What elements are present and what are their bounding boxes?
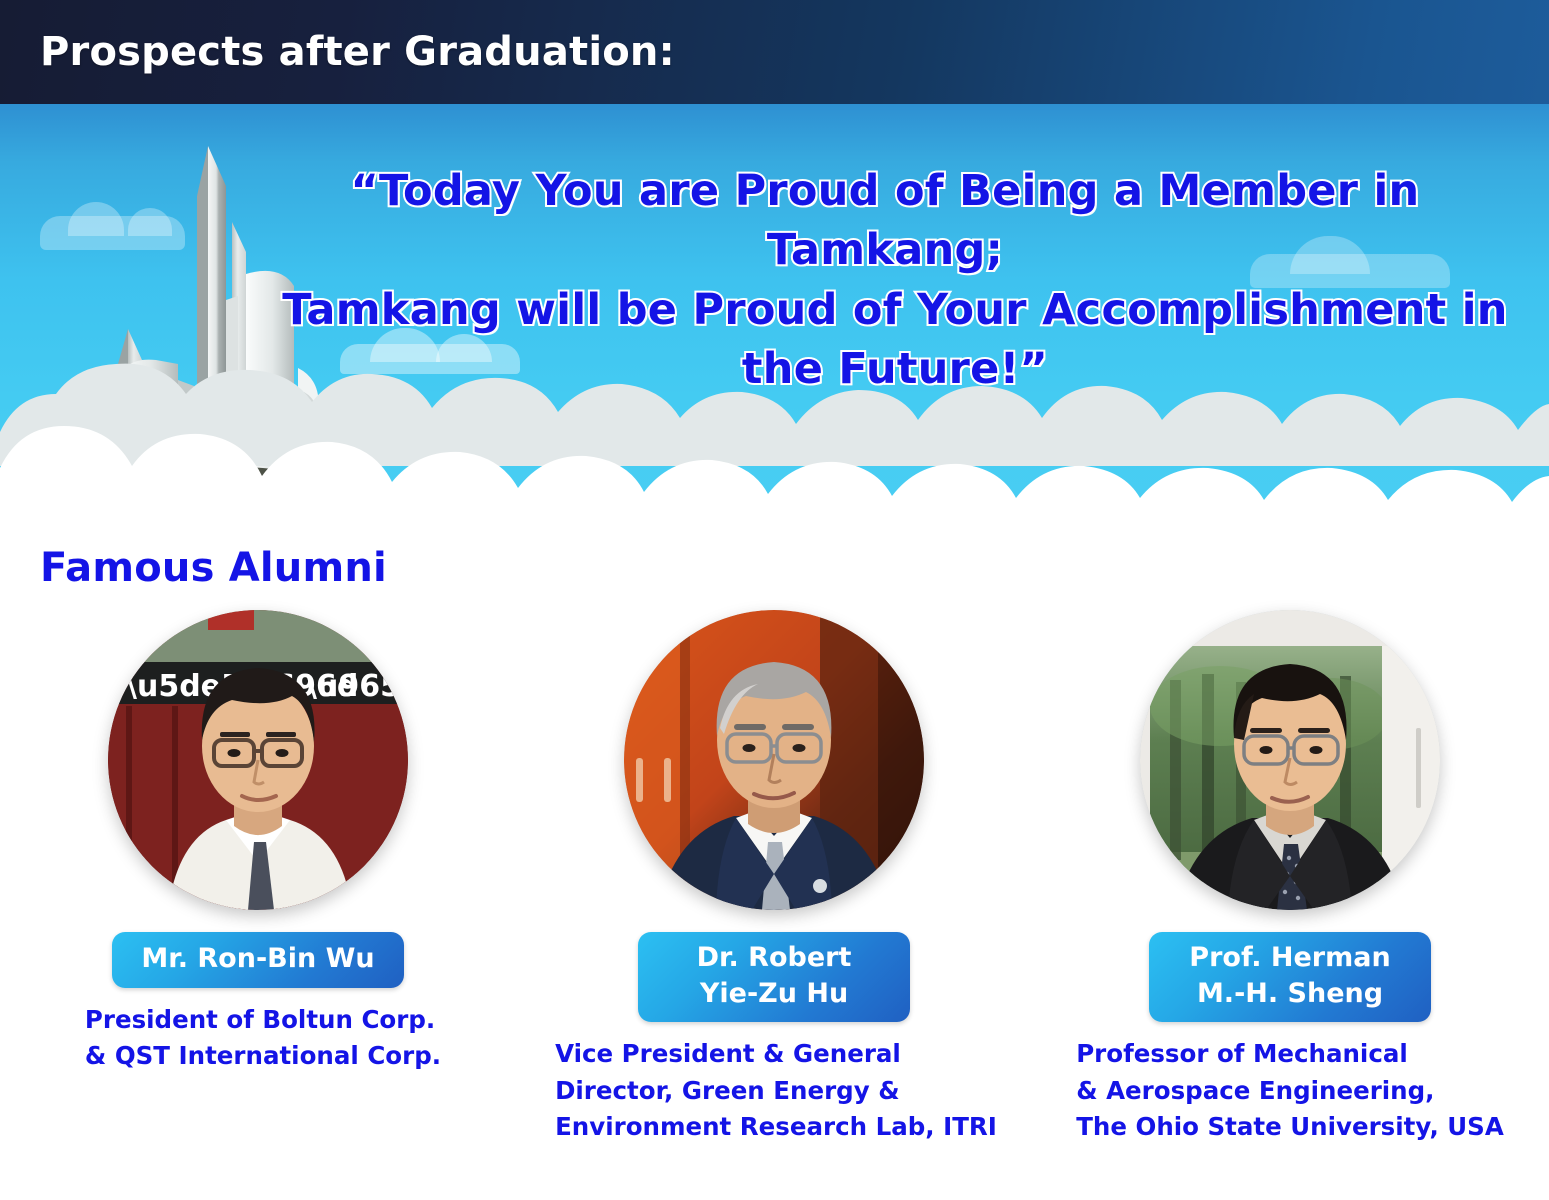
alumni-role-2: Vice President & General Director, Green… [551, 1036, 997, 1145]
section-heading-famous-alumni: Famous Alumni [40, 545, 387, 591]
portrait-wrap-3 [1131, 600, 1449, 920]
svg-text:\u9650\u516c: \u9650\u516c [306, 669, 408, 704]
slide-header: Prospects after Graduation: [0, 0, 1549, 104]
alumni-name-badge-2: Dr. Robert Yie-Zu Hu [638, 932, 910, 1022]
alumni-card-1: \u5de5\u696d \u9650\u516c [0, 600, 516, 1180]
portrait-wrap-2 [615, 600, 933, 920]
alumni-role-3: Professor of Mechanical & Aerospace Engi… [1076, 1036, 1504, 1145]
portrait-ron-bin-wu: \u5de5\u696d \u9650\u516c [108, 610, 408, 910]
portrait-robert-yie-zu-hu [624, 610, 924, 910]
quote-line-1: “Today You are Proud of Being a Member i… [240, 162, 1530, 281]
page-title: Prospects after Graduation: [40, 29, 675, 75]
slide-root: Prospects after Graduation: [0, 0, 1549, 1200]
sky-banner: “Today You are Proud of Being a Member i… [0, 104, 1549, 522]
portrait-herman-mh-sheng [1140, 610, 1440, 910]
portrait-wrap-1: \u5de5\u696d \u9650\u516c [99, 600, 417, 920]
alumni-card-2: Dr. Robert Yie-Zu Hu Vice President & Ge… [516, 600, 1032, 1180]
alumni-list: \u5de5\u696d \u9650\u516c [0, 600, 1549, 1180]
alumni-role-1: President of Boltun Corp. & QST Internat… [75, 1002, 441, 1075]
alumni-name-badge-1: Mr. Ron-Bin Wu [112, 932, 404, 988]
alumni-card-3: Prof. Herman M.-H. Sheng Professor of Me… [1032, 600, 1548, 1180]
alumni-name-badge-3: Prof. Herman M.-H. Sheng [1149, 932, 1431, 1022]
cloud-band-front-icon [0, 406, 1549, 522]
